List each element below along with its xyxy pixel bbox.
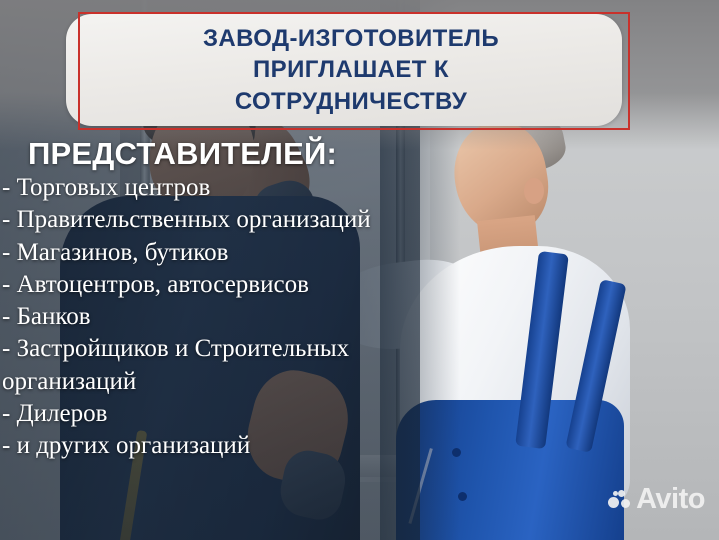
representatives-list: - Торговых центров - Правительственных о… [0,172,400,462]
list-item: - Застройщиков и Строительных организаци… [0,333,400,398]
list-item: - Магазинов, бутиков [0,237,400,269]
avito-dots-icon [608,490,630,510]
list-item: - Автоцентров, автосервисов [0,269,400,301]
list-item: - Банков [0,301,400,333]
avito-watermark: Avito [608,485,705,514]
list-item: - Правительственных организаций [0,204,400,236]
list-item: - и других организаций [0,430,400,462]
headline-banner-border [78,12,630,130]
avito-wordmark: Avito [636,485,705,514]
list-item: - Торговых центров [0,172,400,204]
representatives-heading: ПРЕДСТАВИТЕЛЕЙ: [28,136,337,172]
worker-main-ear [524,178,544,204]
list-item: - Дилеров [0,398,400,430]
headline-banner: ЗАВОД-ИЗГОТОВИТЕЛЬ ПРИГЛАШАЕТ К СОТРУДНИ… [78,12,630,130]
advertisement-image: ЗАВОД-ИЗГОТОВИТЕЛЬ ПРИГЛАШАЕТ К СОТРУДНИ… [0,0,719,540]
